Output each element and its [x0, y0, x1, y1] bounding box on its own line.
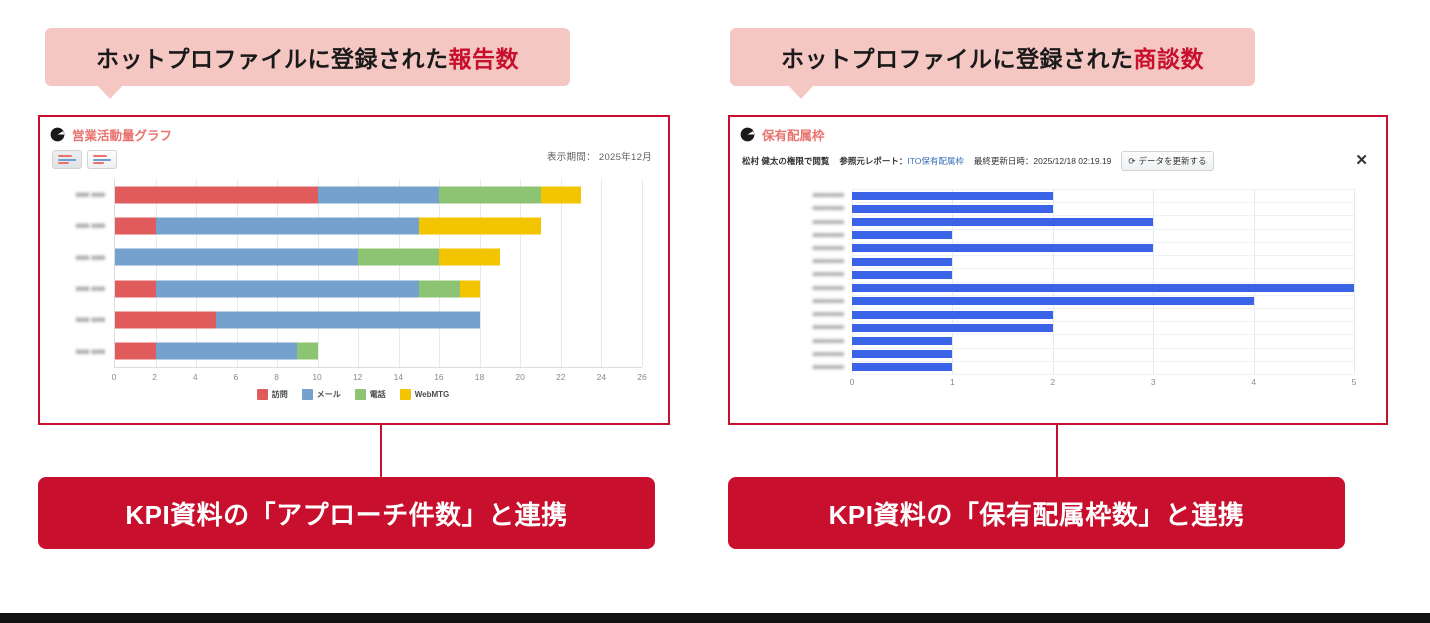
- source-report-group: 参照元レポート：ITO保有配属枠: [839, 155, 964, 167]
- bar-segment-WebMTG[interactable]: [460, 280, 480, 297]
- bar-segment-WebMTG[interactable]: [419, 217, 541, 234]
- chart-bars: [852, 189, 1354, 374]
- chart-bar-row[interactable]: [852, 282, 1354, 295]
- permission-label: 松村 健太の権限で閲覧: [742, 155, 829, 167]
- x-axis-tick: 10: [312, 372, 321, 382]
- x-axis-tick: 12: [353, 372, 362, 382]
- x-axis-tick: 6: [233, 372, 238, 382]
- panel-right-header: 保有配属枠: [730, 117, 1386, 144]
- banner-left: KPI資料の「アプローチ件数」と連携: [38, 477, 655, 549]
- chart-bar-row[interactable]: [115, 336, 642, 367]
- bar-segment-メール[interactable]: [156, 217, 419, 234]
- x-axis-tick: 20: [515, 372, 524, 382]
- chart-x-axis: 02468101214161820222426: [114, 367, 642, 383]
- bar-segment-訪問[interactable]: [115, 217, 156, 234]
- y-axis-label: ■■■■■■■■: [742, 255, 848, 268]
- bar-segment-メール[interactable]: [156, 280, 419, 297]
- legend-item-WebMTG[interactable]: WebMTG: [400, 389, 450, 400]
- x-axis-tick: 16: [434, 372, 443, 382]
- bar-segment-電話[interactable]: [419, 280, 460, 297]
- legend-label: 電話: [370, 389, 386, 400]
- callout-tail-icon: [788, 85, 814, 99]
- source-report-label: 参照元レポート：: [839, 156, 907, 166]
- chart-bar-row[interactable]: [115, 210, 642, 241]
- y-axis-label: ■■■■■■■■: [742, 215, 848, 228]
- assigned-slots-chart-panel: 保有配属枠 松村 健太の権限で閲覧 参照元レポート：ITO保有配属枠 最終更新日…: [728, 115, 1388, 425]
- connector-line-left: [380, 425, 382, 477]
- bar-segment-メール[interactable]: [318, 186, 440, 203]
- bar[interactable]: [852, 284, 1354, 292]
- legend-swatch: [400, 389, 411, 400]
- last-updated-label: 最終更新日時：2025/12/18 02:19.19: [974, 155, 1112, 167]
- bar-segment-WebMTG[interactable]: [439, 249, 500, 266]
- stacked-bar[interactable]: [115, 186, 581, 203]
- x-axis-tick: 2: [1050, 377, 1055, 387]
- legend-label: メール: [317, 389, 341, 400]
- x-axis-tick: 5: [1352, 377, 1357, 387]
- panel-right-subheader: 松村 健太の権限で閲覧 参照元レポート：ITO保有配属枠 最終更新日時：2025…: [730, 144, 1386, 171]
- chart-bar-row[interactable]: [852, 308, 1354, 321]
- y-axis-label: ■■■ ■■■: [52, 336, 110, 367]
- bar-segment-WebMTG[interactable]: [541, 186, 582, 203]
- display-period-label: 表示期間： 2025年12月: [547, 149, 652, 163]
- x-axis-tick: 4: [193, 372, 198, 382]
- refresh-data-label: データを更新する: [1139, 155, 1207, 167]
- chart-bar-row[interactable]: [852, 229, 1354, 242]
- bar-segment-訪問[interactable]: [115, 280, 156, 297]
- refresh-data-button[interactable]: ⟳ データを更新する: [1121, 151, 1213, 171]
- callout-right-highlight: 商談数: [1134, 46, 1205, 72]
- callout-left-prefix: ホットプロファイルに登録された: [96, 46, 449, 72]
- y-axis-label: ■■■■■■■■: [742, 321, 848, 334]
- x-axis-tick: 24: [597, 372, 606, 382]
- bar-segment-電話[interactable]: [439, 186, 540, 203]
- x-axis-tick: 3: [1151, 377, 1156, 387]
- stacked-bar[interactable]: [115, 249, 500, 266]
- bar-segment-訪問[interactable]: [115, 186, 318, 203]
- callout-left-highlight: 報告数: [449, 46, 520, 72]
- bar[interactable]: [852, 324, 1053, 332]
- assigned-slots-bar-chart: ■■■■■■■■■■■■■■■■■■■■■■■■■■■■■■■■■■■■■■■■…: [742, 189, 1372, 413]
- chart-bar-row[interactable]: [852, 361, 1354, 374]
- chart-legend: 訪問メール電話WebMTG: [52, 389, 654, 400]
- panel-left-header: 営業活動量グラフ: [40, 117, 668, 144]
- legend-item-メール[interactable]: メール: [302, 389, 341, 400]
- bar[interactable]: [852, 271, 952, 279]
- chart-bar-row[interactable]: [852, 202, 1354, 215]
- sales-activity-chart-panel: 営業活動量グラフ 表示期間： 2025年12月 ■■■ ■■■■■■ ■■■■■…: [38, 115, 670, 425]
- chart-bar-row[interactable]: [852, 334, 1354, 347]
- bar[interactable]: [852, 258, 952, 266]
- chart-bar-row[interactable]: [852, 348, 1354, 361]
- y-axis-label: ■■■ ■■■: [52, 273, 110, 304]
- chart-bar-row[interactable]: [852, 268, 1354, 281]
- y-axis-label: ■■■ ■■■: [52, 179, 110, 210]
- legend-label: 訪問: [272, 389, 288, 400]
- y-axis-label: ■■■ ■■■: [52, 210, 110, 241]
- chart-plot-area: [852, 189, 1354, 374]
- y-axis-label: ■■■■■■■■: [742, 268, 848, 281]
- gridline: [642, 179, 643, 367]
- x-axis-tick: 0: [850, 377, 855, 387]
- callout-left-text: ホットプロファイルに登録された報告数: [96, 40, 519, 74]
- bar[interactable]: [852, 192, 1053, 200]
- bar[interactable]: [852, 311, 1053, 319]
- bar-segment-訪問[interactable]: [115, 343, 156, 360]
- x-axis-tick: 8: [274, 372, 279, 382]
- x-axis-tick: 4: [1251, 377, 1256, 387]
- bottom-strip: [0, 613, 1430, 623]
- bar-chart-horizontal-icon-button[interactable]: [87, 150, 117, 169]
- legend-swatch: [257, 389, 268, 400]
- bar-segment-電話[interactable]: [358, 249, 439, 266]
- refresh-icon: ⟳: [1128, 156, 1135, 167]
- y-axis-label: ■■■■■■■■: [742, 189, 848, 202]
- y-axis-label: ■■■■■■■■: [742, 229, 848, 242]
- y-axis-label: ■■■■■■■■: [742, 334, 848, 347]
- chart-bar-row[interactable]: [115, 179, 642, 210]
- y-axis-label: ■■■■■■■■: [742, 361, 848, 374]
- callout-left: ホットプロファイルに登録された報告数: [45, 28, 570, 86]
- stacked-bar[interactable]: [115, 311, 480, 328]
- chart-bar-row[interactable]: [115, 273, 642, 304]
- x-axis-tick: 18: [475, 372, 484, 382]
- source-report-link[interactable]: ITO保有配属枠: [907, 156, 964, 166]
- bar[interactable]: [852, 231, 952, 239]
- bar[interactable]: [852, 297, 1254, 305]
- chart-y-axis-labels: ■■■■■■■■■■■■■■■■■■■■■■■■■■■■■■■■■■■■■■■■…: [742, 189, 848, 374]
- chart-bars: [115, 179, 642, 367]
- legend-swatch: [355, 389, 366, 400]
- chart-bar-row[interactable]: [852, 242, 1354, 255]
- bar[interactable]: [852, 244, 1153, 252]
- legend-item-電話[interactable]: 電話: [355, 389, 386, 400]
- y-axis-label: ■■■■■■■■: [742, 242, 848, 255]
- x-axis-tick: 0: [112, 372, 117, 382]
- y-axis-label: ■■■ ■■■: [52, 304, 110, 335]
- legend-swatch: [302, 389, 313, 400]
- y-axis-label: ■■■■■■■■: [742, 282, 848, 295]
- bar-segment-メール[interactable]: [156, 343, 298, 360]
- x-axis-tick: 22: [556, 372, 565, 382]
- bar-segment-メール[interactable]: [115, 249, 358, 266]
- chart-bar-row[interactable]: [852, 321, 1354, 334]
- pie-chart-icon: [740, 127, 755, 142]
- y-axis-label: ■■■■■■■■: [742, 202, 848, 215]
- pie-chart-icon: [50, 127, 65, 142]
- chart-bar-row[interactable]: [852, 189, 1354, 202]
- bar-segment-メール[interactable]: [216, 311, 479, 328]
- x-axis-tick: 1: [950, 377, 955, 387]
- connector-line-right: [1056, 425, 1058, 477]
- banner-right: KPI資料の「保有配属枠数」と連携: [728, 477, 1345, 549]
- stacked-bar[interactable]: [115, 280, 480, 297]
- bar[interactable]: [852, 350, 952, 358]
- stacked-bar[interactable]: [115, 217, 541, 234]
- close-icon[interactable]: ✕: [1355, 153, 1368, 168]
- x-axis-tick: 26: [637, 372, 646, 382]
- y-axis-label: ■■■ ■■■: [52, 242, 110, 273]
- chart-bar-row[interactable]: [852, 215, 1354, 228]
- y-axis-label: ■■■■■■■■: [742, 348, 848, 361]
- chart-bar-row[interactable]: [115, 242, 642, 273]
- stacked-bar-chart: ■■■ ■■■■■■ ■■■■■■ ■■■■■■ ■■■■■■ ■■■■■■ ■…: [52, 175, 654, 415]
- bar-segment-訪問[interactable]: [115, 311, 216, 328]
- chart-bar-row[interactable]: [852, 295, 1354, 308]
- bar[interactable]: [852, 363, 952, 371]
- bar-chart-vertical-icon-button[interactable]: [52, 150, 82, 169]
- chart-bar-row[interactable]: [115, 304, 642, 335]
- bar[interactable]: [852, 337, 952, 345]
- y-axis-label: ■■■■■■■■: [742, 295, 848, 308]
- y-axis-label: ■■■■■■■■: [742, 308, 848, 321]
- chart-y-axis-labels: ■■■ ■■■■■■ ■■■■■■ ■■■■■■ ■■■■■■ ■■■■■■ ■…: [52, 179, 110, 367]
- chart-plot-area: [114, 179, 642, 367]
- panel-right-title: 保有配属枠: [762, 125, 825, 144]
- gridline: [1354, 189, 1355, 374]
- bar[interactable]: [852, 205, 1053, 213]
- panel-left-title: 営業活動量グラフ: [72, 125, 172, 144]
- bar[interactable]: [852, 218, 1153, 226]
- callout-right-text: ホットプロファイルに登録された商談数: [781, 40, 1204, 74]
- x-axis-tick: 14: [394, 372, 403, 382]
- chart-bar-row[interactable]: [852, 255, 1354, 268]
- x-axis-tick: 2: [152, 372, 157, 382]
- callout-right: ホットプロファイルに登録された商談数: [730, 28, 1255, 86]
- bar-segment-電話[interactable]: [297, 343, 317, 360]
- legend-item-訪問[interactable]: 訪問: [257, 389, 288, 400]
- callout-tail-icon: [97, 85, 123, 99]
- callout-right-prefix: ホットプロファイルに登録された: [781, 46, 1134, 72]
- chart-x-axis: 012345: [852, 374, 1354, 390]
- legend-label: WebMTG: [415, 390, 450, 399]
- stacked-bar[interactable]: [115, 343, 318, 360]
